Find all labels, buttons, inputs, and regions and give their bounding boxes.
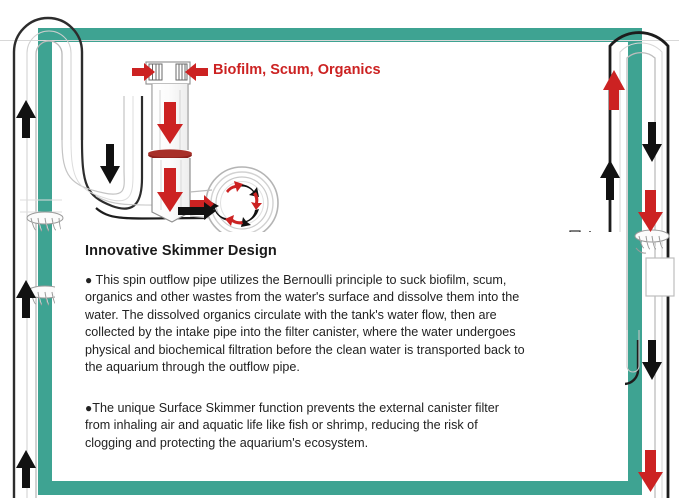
panel-heading: Innovative Skimmer Design [85,243,505,259]
callout-label: Biofilm, Scum, Organics [213,62,381,78]
arrow-up-black [16,100,36,488]
paragraph-two: ●The unique Surface Skimmer function pre… [85,400,525,452]
paragraph-one-text: This spin outflow pipe utilizes the Bern… [85,273,525,374]
paragraph-one: ● This spin outflow pipe utilizes the Be… [85,272,525,376]
bullet-glyph: ● [85,273,92,287]
paragraph-two-text: The unique Surface Skimmer function prev… [85,401,499,450]
arrow-right-red-cap [132,63,155,81]
skimmer-diagram-image: Biofilm, Scum, Organics Innovative Skimm… [0,0,679,498]
arrow-left-red-label [185,63,208,81]
arrow-right-nozzle [178,195,216,220]
